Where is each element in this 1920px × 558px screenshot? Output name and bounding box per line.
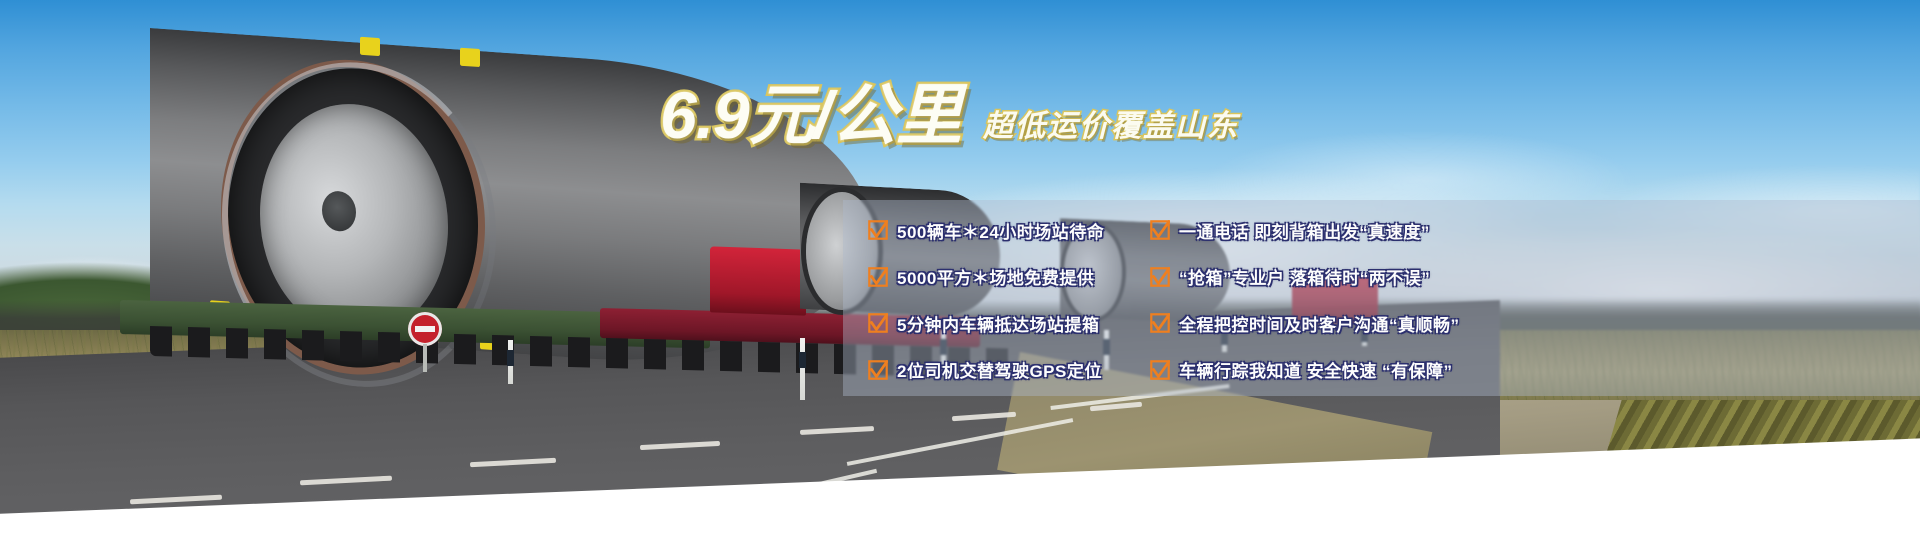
feature-label: 5分钟内车辆抵达场站提箱 xyxy=(897,311,1099,336)
feature-item: 全程把控时间及时客户沟通“真顺畅” xyxy=(1138,303,1920,343)
feature-item: 2位司机交替驾驶GPS定位 xyxy=(868,350,1138,390)
headline-tagline: 超低运价覆盖山东 xyxy=(983,112,1239,148)
check-box-icon xyxy=(1150,267,1170,287)
check-box-icon xyxy=(1150,220,1170,240)
feature-item: 一通电话 即刻背箱出发“真速度” xyxy=(1138,210,1920,250)
check-box-icon xyxy=(1150,360,1170,380)
feature-item: 车辆行踪我知道 安全快速 “有保障” xyxy=(1138,350,1920,390)
feature-label: “抢箱”专业户 落箱待时“两不误” xyxy=(1179,264,1430,289)
red-truck-cab xyxy=(710,246,806,315)
check-box-icon xyxy=(1150,313,1170,333)
headline-block: 6.9元/公里 超低运价覆盖山东 xyxy=(660,68,1860,148)
promotional-banner: 6.9元/公里 超低运价覆盖山东 500辆车＊24小时场站待命 一通电话 即刻背… xyxy=(0,0,1920,558)
feature-label: 全程把控时间及时客户沟通“真顺畅” xyxy=(1179,311,1460,336)
feature-list: 500辆车＊24小时场站待命 一通电话 即刻背箱出发“真速度” 5000平方＊场… xyxy=(868,210,1920,390)
marker-post xyxy=(800,338,805,400)
feature-item: 5分钟内车辆抵达场站提箱 xyxy=(868,303,1138,343)
check-box-icon xyxy=(868,360,888,380)
check-box-icon xyxy=(868,313,888,333)
price-headline: 6.9元/公里 xyxy=(660,82,961,148)
feature-label: 车辆行踪我知道 安全快速 “有保障” xyxy=(1179,357,1452,382)
feature-label: 500辆车＊24小时场站待命 xyxy=(897,218,1104,243)
feature-label: 一通电话 即刻背箱出发“真速度” xyxy=(1179,218,1430,243)
lifting-tab xyxy=(460,48,480,67)
sign-post xyxy=(423,344,427,372)
no-entry-sign-icon xyxy=(408,312,442,346)
feature-item: 5000平方＊场地免费提供 xyxy=(868,257,1138,297)
feature-label: 5000平方＊场地免费提供 xyxy=(897,264,1094,289)
feature-item: “抢箱”专业户 落箱待时“两不误” xyxy=(1138,257,1920,297)
lifting-tab xyxy=(360,37,380,56)
feature-item: 500辆车＊24小时场站待命 xyxy=(868,210,1138,250)
check-box-icon xyxy=(868,220,888,240)
marker-post xyxy=(508,340,513,384)
check-box-icon xyxy=(868,267,888,287)
feature-label: 2位司机交替驾驶GPS定位 xyxy=(897,357,1102,382)
